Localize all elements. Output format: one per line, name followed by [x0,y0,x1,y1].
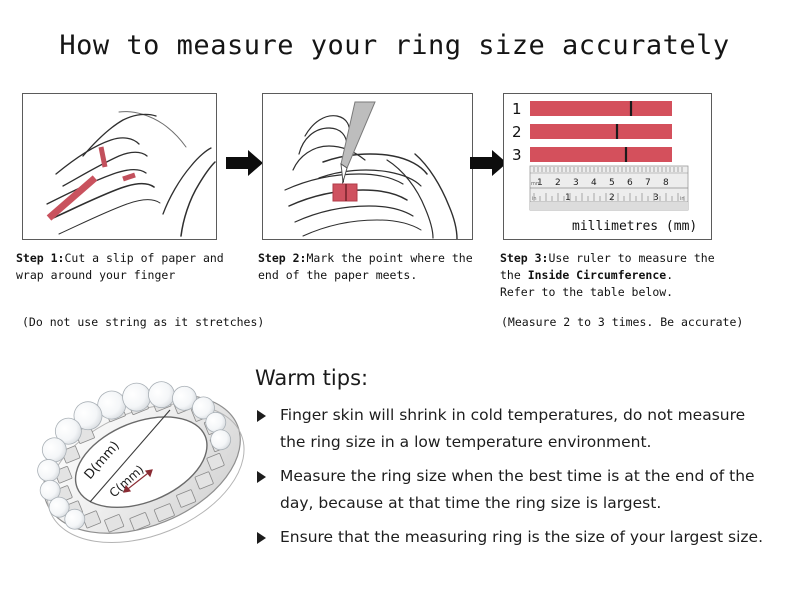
paper-strip-on-finger [333,184,357,201]
svg-text:2: 2 [555,178,561,188]
svg-text:mm: mm [531,181,541,187]
strip-label-2: 2 [512,123,522,141]
svg-text:5: 5 [609,178,615,188]
svg-text:7: 7 [645,178,651,188]
step-2-illustration-panel [262,93,473,240]
measured-strip-row-2: 2 [512,123,672,141]
list-item: Ensure that the measuring ring is the si… [255,524,775,551]
list-item: Measure the ring size when the best time… [255,463,775,517]
list-item: Finger skin will shrink in cold temperat… [255,402,775,456]
svg-text:4: 4 [591,178,597,188]
svg-text:8: 8 [663,178,669,188]
step-3-label: Step 3: [500,251,548,265]
step-3-note: (Measure 2 to 3 times. Be accurate) [501,315,743,329]
triangle-bullet-icon [257,471,266,483]
tip-text: Measure the ring size when the best time… [280,467,755,512]
ruler-and-strips-drawing: 1 2 3 [504,94,712,240]
ring-size-guide-infographic: How to measure your ring size accurately [0,0,789,606]
step-1-note: (Do not use string as it stretches) [22,315,264,329]
step-2-caption: Step 2:Mark the point where the end of t… [258,250,498,284]
strip-label-3: 3 [512,146,522,164]
tip-text: Finger skin will shrink in cold temperat… [280,406,745,451]
unit-caption: millimetres (mm) [572,219,697,234]
measured-strip-row-3: 3 [512,146,672,164]
pen [341,102,375,184]
step-3-caption: Step 3:Use ruler to measure the the Insi… [500,250,760,301]
warm-tips-heading: Warm tips: [255,366,368,390]
step-3-illustration-panel: 1 2 3 [503,93,712,240]
step-3-text-bold: Inside Circumference [528,268,666,282]
step-1-label: Step 1: [16,251,64,265]
triangle-bullet-icon [257,532,266,544]
triangle-bullet-icon [257,410,266,422]
ruler: 12 34 56 78 mm 12 3 in in [530,166,688,210]
svg-text:3: 3 [573,178,579,188]
measured-strip-row-1: 1 [512,100,672,118]
paper-strip-wrapped-2 [123,175,135,179]
step-2-label: Step 2: [258,251,306,265]
paper-strip-loose [49,178,95,218]
hand-with-paper-strip-drawing [23,94,217,240]
svg-text:in: in [532,196,537,202]
page-title: How to measure your ring size accurately [0,30,789,61]
step-1-caption: Step 1:Cut a slip of paper and wrap arou… [16,250,256,284]
hand-marking-paper-drawing [263,94,473,240]
tip-text: Ensure that the measuring ring is the si… [280,528,763,546]
warm-tips-list: Finger skin will shrink in cold temperat… [255,402,775,558]
svg-text:6: 6 [627,178,633,188]
arrow-step1-to-step2 [222,147,266,179]
eternity-ring-diagram: D(mm) C(mm) [28,352,256,577]
step-1-illustration-panel [22,93,217,240]
strip-label-1: 1 [512,100,522,118]
